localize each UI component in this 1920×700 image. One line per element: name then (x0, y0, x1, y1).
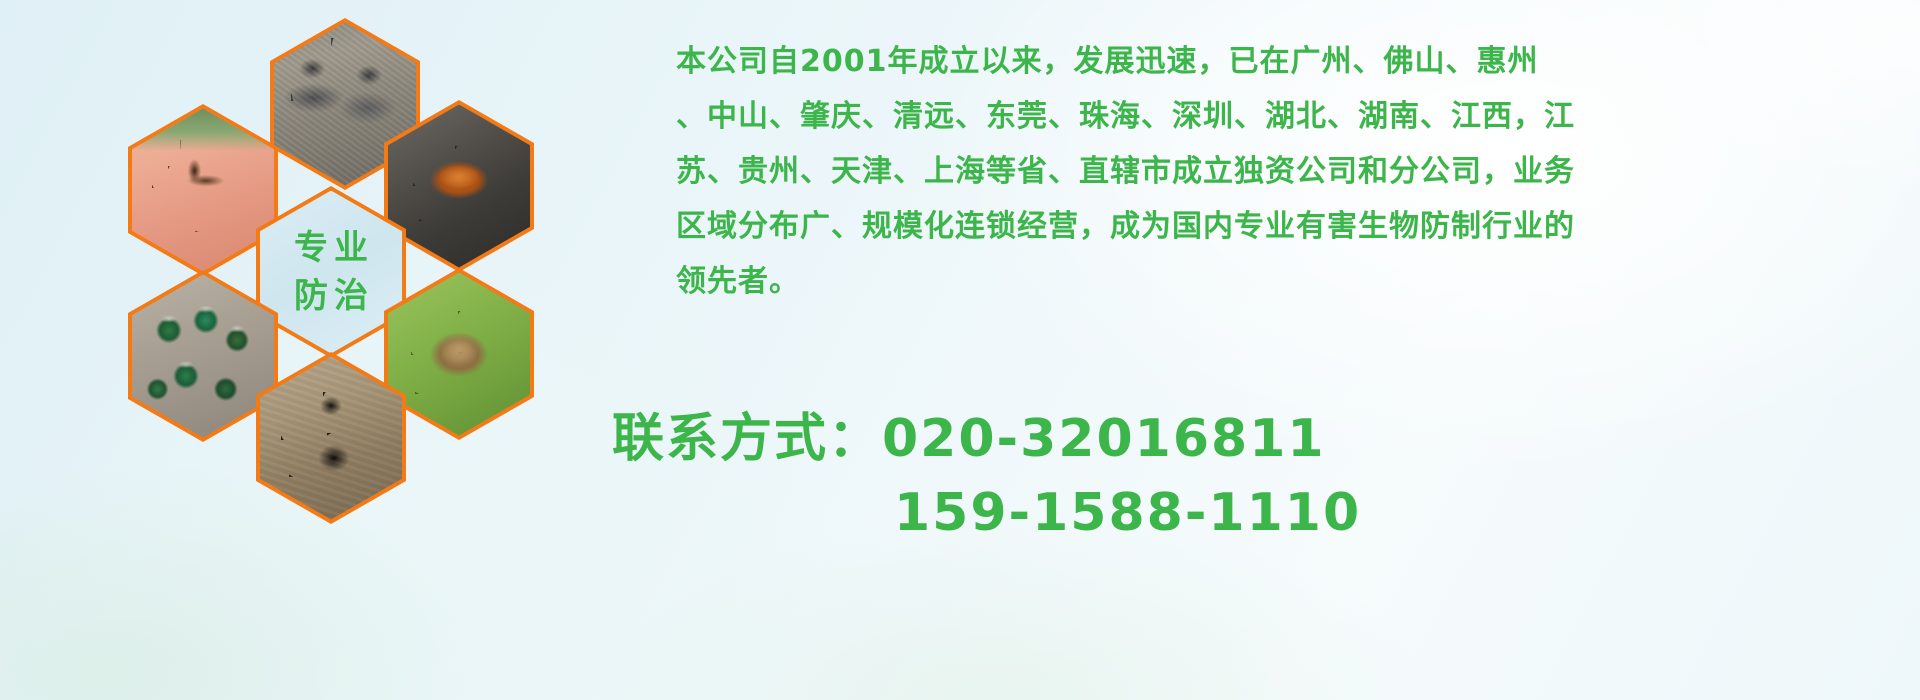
ant-photo (260, 357, 402, 520)
mosquito-photo (132, 109, 274, 272)
hex-inner-ant (260, 357, 402, 520)
hex-inner-stinkbug (388, 273, 530, 436)
contact-block: 联系方式：020-32016811 159-1588-1110 (612, 402, 1892, 550)
hex-inner-slogan: 专业 防治 (260, 191, 402, 354)
slogan-line-1: 专业 (288, 224, 374, 272)
intro-line-4: 区域分布广、规模化连锁经营，成为国内专业有害生物防制行业的 (610, 199, 1880, 254)
contact-secondary-phone[interactable]: 159-1588-1110 (612, 476, 1892, 550)
intro-line-5: 领先者。 (610, 254, 1880, 309)
flies-photo (132, 275, 274, 438)
company-intro-paragraph: 本公司自2001年成立以来，发展迅速，已在广州、佛山、惠州 、中山、肇庆、清远、… (610, 34, 1880, 309)
company-intro-block: 本公司自2001年成立以来，发展迅速，已在广州、佛山、惠州 、中山、肇庆、清远、… (610, 34, 1880, 309)
intro-line-3: 苏、贵州、天津、上海等省、直辖市成立独资公司和分公司，业务 (610, 144, 1880, 199)
hex-inner-mosquito (132, 109, 274, 272)
stinkbug-photo (388, 273, 530, 436)
slogan-line-2: 防治 (288, 272, 374, 320)
hex-photo-flies (128, 270, 278, 442)
intro-line-2: 、中山、肇庆、清远、东莞、珠海、深圳、湖北、湖南、江西，江 (610, 89, 1880, 144)
hex-slogan-center: 专业 防治 (256, 186, 406, 358)
intro-line-1: 本公司自2001年成立以来，发展迅速，已在广州、佛山、惠州 (610, 34, 1880, 89)
hex-photo-stinkbug (384, 268, 534, 440)
contact-primary-phone[interactable]: 联系方式：020-32016811 (612, 402, 1892, 476)
hex-photo-mosquito (128, 104, 278, 276)
hex-inner-cockroach (388, 105, 530, 268)
cockroach-photo (388, 105, 530, 268)
pest-control-banner: 专业 防治 本公司自2001年成立以来，发展迅速，已在广州、佛山、惠州 、中山、… (0, 0, 1920, 700)
hexagon-photo-cluster: 专业 防治 (84, 0, 584, 560)
hex-inner-flies (132, 275, 274, 438)
hex-photo-ant (256, 352, 406, 524)
